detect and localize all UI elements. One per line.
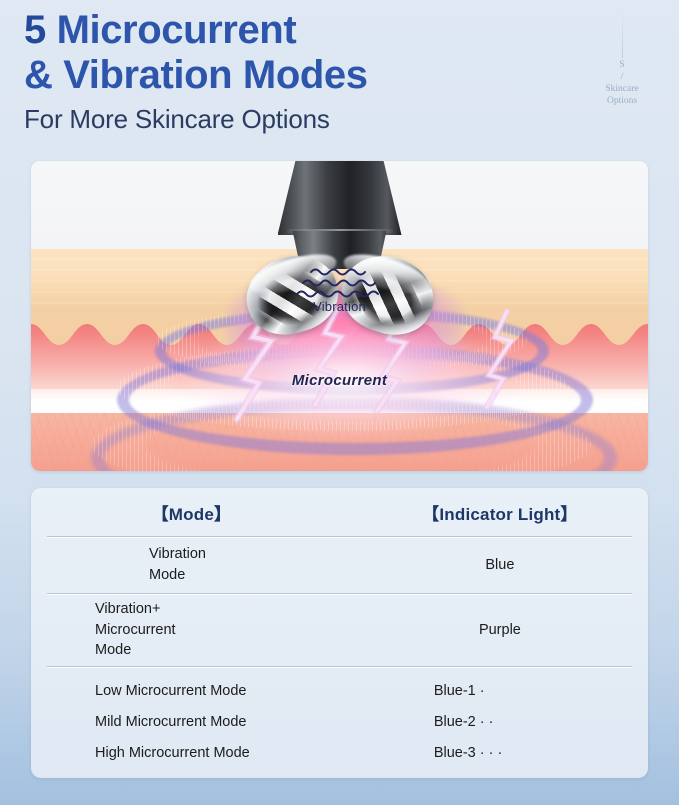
watermark-line-4: Options — [587, 96, 657, 108]
table-header-indicator-light: 【Indicator Light】 — [352, 500, 648, 525]
skin-cross-section-illustration: Vibration Microcurrent — [31, 161, 648, 471]
table-group-spacer-bottom — [31, 769, 648, 778]
infographic-page: 5 Microcurrent & Vibration Modes For Mor… — [0, 0, 679, 805]
table-cell-mode: Vibration+ Microcurrent Mode — [31, 599, 352, 661]
page-title-line-1: 5 Microcurrent — [24, 8, 624, 53]
watermark-line-2: / — [587, 72, 657, 84]
table-header-row: 【Mode】 【Indicator Light】 — [31, 488, 648, 536]
table-cell-mode-line-1: Vibration+ — [95, 599, 352, 620]
page-subtitle: For More Skincare Options — [24, 104, 624, 135]
table-cell-mode: Vibration Mode — [31, 544, 352, 585]
table-cell-mode-line-3: Mode — [95, 640, 352, 661]
watermark-rule — [622, 12, 623, 58]
table-cell-indicator-light: Blue-1 · — [352, 681, 648, 702]
table-row: High Microcurrent Mode Blue-3 · · · — [31, 738, 648, 769]
table-cell-indicator-light: Purple — [352, 620, 648, 641]
device-body — [278, 161, 402, 235]
table-group-spacer-top — [31, 667, 648, 676]
page-title-line-2: & Vibration Modes — [24, 53, 624, 98]
table-row: Mild Microcurrent Mode Blue-2 · · — [31, 707, 648, 738]
watermark: S / Skincare Options — [587, 60, 657, 108]
table-cell-mode-line-2: Microcurrent — [95, 620, 352, 641]
mode-count: 5 — [24, 8, 46, 52]
header: 5 Microcurrent & Vibration Modes For Mor… — [24, 8, 624, 135]
label-microcurrent: Microcurrent — [292, 372, 387, 389]
modes-table: 【Mode】 【Indicator Light】 Vibration Mode … — [31, 488, 648, 778]
watermark-line-1: S — [587, 60, 657, 72]
label-vibration: Vibration — [313, 299, 366, 314]
table-row: Vibration+ Microcurrent Mode Purple — [31, 594, 648, 666]
table-cell-indicator-light: Blue-2 · · — [352, 712, 648, 733]
table-cell-indicator-light: Blue — [352, 555, 648, 576]
table-row: Low Microcurrent Mode Blue-1 · — [31, 676, 648, 707]
table-header-mode: 【Mode】 — [31, 500, 352, 525]
watermark-line-3: Skincare — [587, 84, 657, 96]
table-cell-mode-line-1: Vibration — [149, 544, 352, 565]
table-cell-indicator-light: Blue-3 · · · — [352, 743, 648, 764]
table-cell-mode: Mild Microcurrent Mode — [31, 712, 352, 733]
table-cell-mode: Low Microcurrent Mode — [31, 681, 352, 702]
table-cell-mode: High Microcurrent Mode — [31, 743, 352, 764]
table-cell-mode-line-2: Mode — [149, 565, 352, 586]
table-row: Vibration Mode Blue — [31, 537, 648, 593]
page-title-line-1-rest: Microcurrent — [46, 8, 296, 52]
vibration-wave-icon — [285, 266, 395, 300]
illustration-card: Vibration Microcurrent — [31, 161, 648, 471]
